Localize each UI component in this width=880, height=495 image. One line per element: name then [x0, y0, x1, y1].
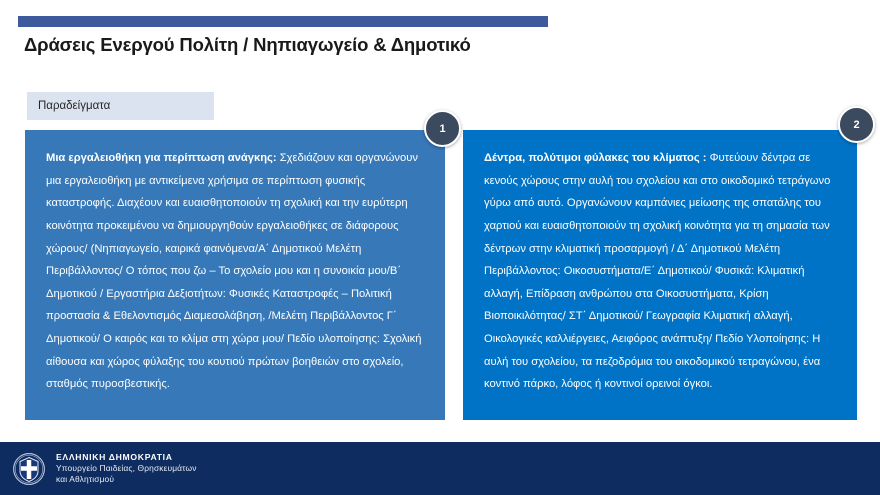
number-badge-1: 1 [424, 110, 461, 147]
content-card-2: Δέντρα, πολύτιμοι φύλακες του κλίματος :… [463, 130, 857, 420]
footer-line-1: ΕΛΛΗΝΙΚΗ ΔΗΜΟΚΡΑΤΙΑ [56, 452, 197, 463]
greek-coat-of-arms-icon [13, 453, 45, 485]
content-card-1: Μια εργαλειοθήκη για περίπτωση ανάγκης: … [25, 130, 445, 420]
content-card-1-body: Σχεδιάζουν και οργανώνουν μια εργαλειοθή… [46, 152, 421, 390]
footer-text-block: ΕΛΛΗΝΙΚΗ ΔΗΜΟΚΡΑΤΙΑ Υπουργείο Παιδείας, … [56, 452, 197, 486]
page-title: Δράσεις Ενεργού Πολίτη / Νηπιαγωγείο & Δ… [24, 34, 844, 56]
examples-tag: Παραδείγματα [27, 92, 214, 120]
content-card-1-lead: Μια εργαλειοθήκη για περίπτωση ανάγκης: [46, 152, 277, 164]
footer-line-3: και Αθλητισμού [56, 474, 197, 485]
footer-content: ΕΛΛΗΝΙΚΗ ΔΗΜΟΚΡΑΤΙΑ Υπουργείο Παιδείας, … [0, 442, 880, 495]
content-card-2-text: Δέντρα, πολύτιμοι φύλακες του κλίματος :… [484, 147, 837, 396]
content-card-1-text: Μια εργαλειοθήκη για περίπτωση ανάγκης: … [46, 147, 425, 396]
content-card-2-body: Φυτεύουν δέντρα σε κενούς χώρους στην αυ… [484, 152, 830, 390]
number-badge-1-label: 1 [439, 123, 445, 135]
content-card-2-lead: Δέντρα, πολύτιμοι φύλακες του κλίματος : [484, 152, 707, 164]
number-badge-2: 2 [838, 106, 875, 143]
footer-line-2: Υπουργείο Παιδείας, Θρησκευμάτων [56, 463, 197, 474]
footer-bar: ΕΛΛΗΝΙΚΗ ΔΗΜΟΚΡΑΤΙΑ Υπουργείο Παιδείας, … [0, 442, 880, 495]
examples-tag-label: Παραδείγματα [38, 100, 110, 112]
number-badge-2-label: 2 [853, 119, 859, 131]
top-accent-bar [18, 16, 548, 27]
